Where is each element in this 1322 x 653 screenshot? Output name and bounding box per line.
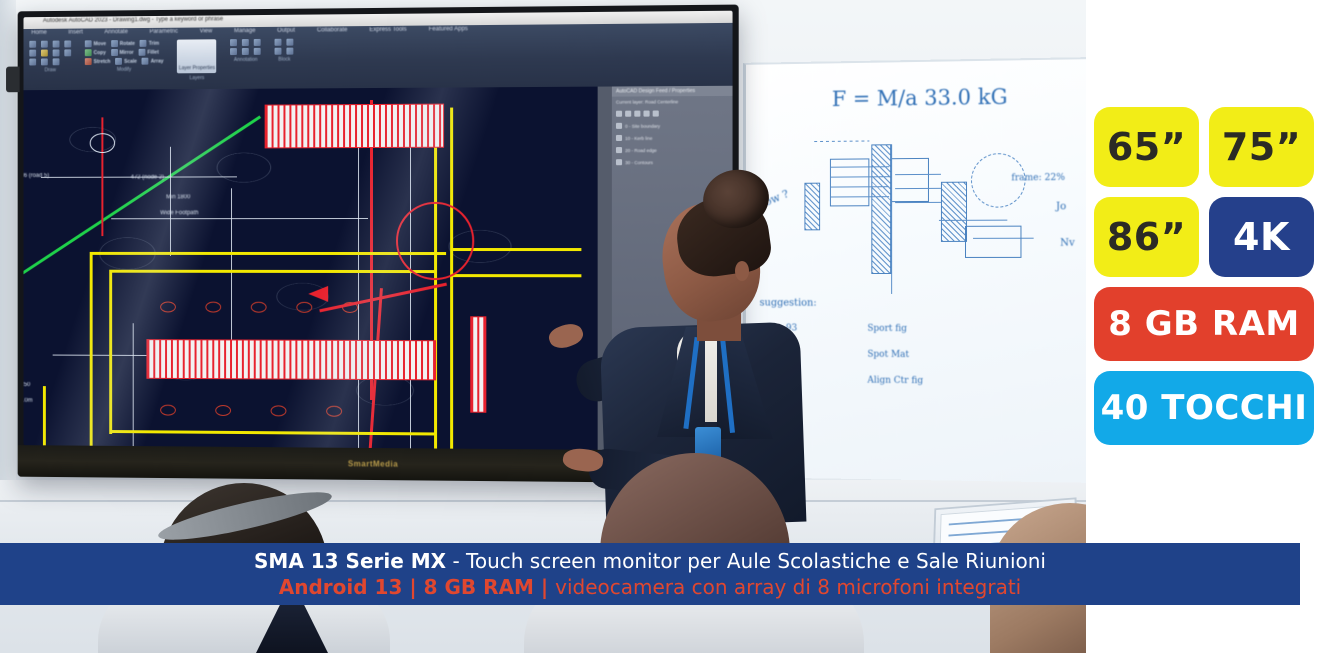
cad-tool-ellipse[interactable] <box>53 49 60 56</box>
badge-4k: 4K <box>1209 197 1314 277</box>
cad-tab[interactable]: View <box>200 28 213 34</box>
cad-layer-item[interactable]: 0 - Site boundary <box>612 119 733 132</box>
whiteboard-sketch-part <box>895 174 941 175</box>
cad-tool-array[interactable]: Array <box>142 58 164 65</box>
cad-tool-match-properties[interactable] <box>275 48 282 55</box>
cad-tool-create-block[interactable] <box>287 39 294 46</box>
cad-tab[interactable]: Insert <box>68 30 83 36</box>
cad-tool-mirror[interactable]: Mirror <box>111 49 134 56</box>
presenter-ear <box>735 261 749 281</box>
whiteboard-sketch-part <box>941 182 967 242</box>
banner-line-1: SMA 13 Serie MX - Touch screen monitor p… <box>254 549 1046 574</box>
cad-tool-copy[interactable]: Copy <box>85 49 106 56</box>
banner-line-2: Android 13 | 8 GB RAM | videocamera con … <box>279 574 1022 600</box>
whiteboard-sketch-part <box>939 220 1007 221</box>
cad-tool-move[interactable]: Move <box>85 40 106 47</box>
cad-drawing-canvas[interactable]: N6 (road 5) 472 (node 2) Min 1800 Wide F… <box>24 87 612 450</box>
cad-ribbon-tabs[interactable]: Home Insert Annotate Parametric View Man… <box>31 26 468 36</box>
banner-model-name: SMA 13 Serie MX <box>254 549 446 573</box>
cad-tool-polyline[interactable] <box>41 41 48 48</box>
cad-layer-item[interactable]: 30 - Contours <box>612 156 733 169</box>
cad-tool-fillet[interactable]: Fillet <box>139 49 159 56</box>
whiteboard-sketch-part <box>895 188 941 189</box>
layer-swatch-icon <box>616 147 622 153</box>
whiteboard-sketch-part <box>891 158 929 202</box>
cad-tool-multileader[interactable] <box>254 48 261 55</box>
cad-tool-leader[interactable] <box>254 39 261 46</box>
screen-glare <box>24 87 612 450</box>
banner-specs-rest: videocamera con array di 8 microfoni int… <box>555 575 1021 599</box>
cad-tool-insert-block[interactable] <box>275 39 282 46</box>
palette-icon[interactable] <box>625 111 631 117</box>
badge-touch-points: 40 TOCCHI <box>1094 371 1314 445</box>
cad-tool-hatch[interactable] <box>41 50 48 57</box>
whiteboard-sketch-part <box>971 153 1026 208</box>
cad-tab[interactable]: Express Tools <box>369 27 406 33</box>
cad-tool-trim[interactable]: Trim <box>140 40 159 47</box>
cad-tool-rectangle[interactable] <box>29 50 36 57</box>
poster-root: F = M/a 33.0 kG how ? frame: 22% Jo Nv s… <box>0 0 1322 653</box>
whiteboard-sketch-part <box>871 144 891 274</box>
whiteboard-note: Sport fig <box>867 324 907 334</box>
whiteboard-sketch-part <box>814 140 869 142</box>
palette-icon[interactable] <box>653 110 659 116</box>
cad-group-label: Modify <box>85 66 164 72</box>
cad-tool-dimension[interactable] <box>242 39 249 46</box>
cad-tab[interactable]: Output <box>277 28 295 34</box>
cad-group-modify: Move Rotate Trim Copy Mirror Fillet <box>85 40 164 82</box>
cad-group-layers: Layer Properties Layers <box>177 39 216 81</box>
cad-tool-circle[interactable] <box>53 41 60 48</box>
cad-layer-item[interactable]: 20 - Road edge <box>612 144 733 157</box>
cad-tool-region[interactable] <box>41 58 48 65</box>
whiteboard-sketch-part <box>895 202 941 203</box>
cad-group-annotation: Annotation <box>230 39 261 81</box>
cad-tool-spline[interactable] <box>64 49 71 56</box>
cad-tool-rotate[interactable]: Rotate <box>111 40 135 47</box>
cad-tool-scale[interactable]: Scale <box>115 58 137 65</box>
cad-tool-text[interactable] <box>230 39 237 46</box>
cad-group-draw: Draw <box>29 40 71 82</box>
palette-icon[interactable] <box>643 111 649 117</box>
badge-86-inch: 86” <box>1094 197 1199 277</box>
cad-tab[interactable]: Manage <box>234 28 255 34</box>
cad-tool-mtext[interactable] <box>242 48 249 55</box>
cad-tool-line[interactable] <box>29 41 36 48</box>
cad-group-block: Block <box>275 39 294 81</box>
cad-palette-section: Current layer: Road Centerline <box>612 96 733 108</box>
badge-ram: 8 GB RAM <box>1094 287 1314 361</box>
floor-skirting-line <box>0 500 1086 502</box>
whiteboard-note: Nv <box>1060 238 1075 249</box>
cad-group-label: Annotation <box>230 57 261 63</box>
cad-ribbon-groups: Draw Move Rotate Trim Copy <box>29 35 728 82</box>
cad-tool-table[interactable] <box>230 48 237 55</box>
cad-group-label: Block <box>275 57 294 63</box>
brand-logo: SmartMedia <box>348 459 398 468</box>
layer-swatch-icon <box>616 135 622 141</box>
cad-tool-arc[interactable] <box>64 40 71 47</box>
feature-badges: 65” 75” 86” 4K 8 GB RAM 40 TOCCHI <box>1094 107 1314 445</box>
whiteboard-sketch-part <box>965 226 1021 258</box>
cad-palette-toolbar[interactable] <box>612 107 733 120</box>
cad-palette-header: AutoCAD Design Feed / Properties <box>612 86 733 97</box>
monitor-side-port <box>6 67 20 93</box>
layer-swatch-icon <box>616 123 622 129</box>
cad-tab[interactable]: Parametric <box>149 29 177 35</box>
cad-palette-title: AutoCAD Design Feed / Properties <box>612 86 733 97</box>
badge-75-inch: 75” <box>1209 107 1314 187</box>
palette-icon[interactable] <box>634 111 640 117</box>
cad-title-text: Autodesk AutoCAD 2023 - Drawing1.dwg - T… <box>43 16 223 24</box>
layer-swatch-icon <box>616 159 622 165</box>
palette-icon[interactable] <box>616 111 622 117</box>
cad-tool-boundary[interactable] <box>53 58 60 65</box>
cad-tool-select-objects[interactable] <box>287 48 294 55</box>
cad-tool-layer-properties[interactable]: Layer Properties <box>177 39 216 73</box>
whiteboard-note: Align Ctr fig <box>867 376 923 386</box>
cad-group-label: Layers <box>177 75 216 81</box>
badge-65-inch: 65” <box>1094 107 1199 187</box>
cad-group-label: Draw <box>29 67 71 73</box>
whiteboard-note: Jo <box>1056 201 1066 212</box>
whiteboard-note: Spot Mat <box>867 350 909 360</box>
product-banner: SMA 13 Serie MX - Touch screen monitor p… <box>0 543 1300 605</box>
cad-tool-stretch[interactable]: Stretch <box>85 58 111 65</box>
cad-tool-point[interactable] <box>29 59 36 66</box>
whiteboard-sketch-part <box>891 144 892 294</box>
cad-tab[interactable]: Annotate <box>104 29 128 35</box>
cad-ribbon: Home Insert Annotate Parametric View Man… <box>24 23 733 90</box>
whiteboard-heading: F = M/a 33.0 kG <box>832 85 1008 111</box>
cad-tab[interactable]: Collaborate <box>317 27 348 33</box>
banner-specs-bold: Android 13 | 8 GB RAM | <box>279 575 555 599</box>
cad-tab[interactable]: Featured Apps <box>429 26 468 32</box>
banner-description: - Touch screen monitor per Aule Scolasti… <box>446 549 1046 573</box>
cad-layer-item[interactable]: 10 - Kerb line <box>612 131 733 144</box>
cad-tab[interactable]: Home <box>31 30 47 36</box>
